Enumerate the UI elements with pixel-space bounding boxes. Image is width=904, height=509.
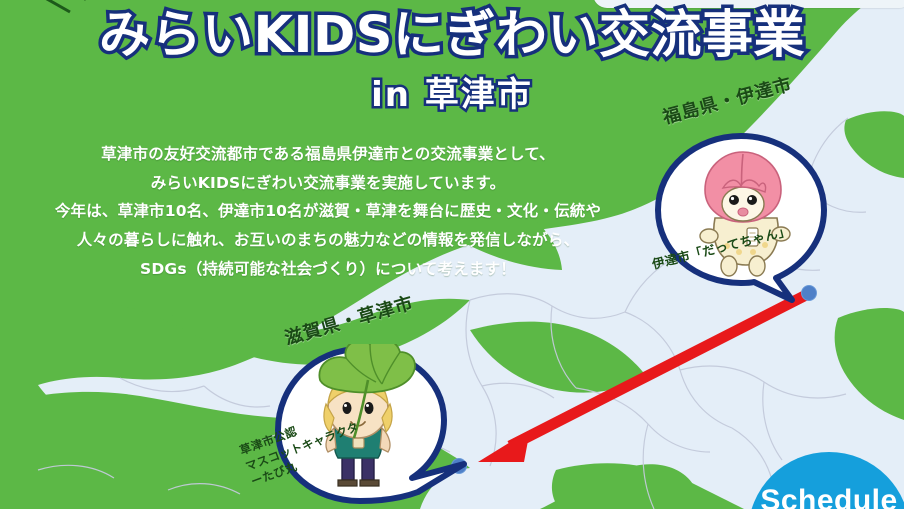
description-line-5: SDGs（持続可能な社会づくり）について考えます！ <box>28 255 628 284</box>
corner-decoration-icon <box>18 0 98 24</box>
description-line-2: みらいKIDSにぎわい交流事業を実施しています。 <box>28 169 628 198</box>
description-line-3: 今年は、草津市10名、伊達市10名が滋賀・草津を舞台に歴史・文化・伝統や <box>28 197 628 226</box>
poster-canvas: みらいKIDSにぎわい交流事業 in 草津市 草津市の友好交流都市である福島県伊… <box>0 0 904 509</box>
description-line-1: 草津市の友好交流都市である福島県伊達市との交流事業として、 <box>28 140 628 169</box>
description-paragraph: 草津市の友好交流都市である福島県伊達市との交流事業として、 みらいKIDSにぎわ… <box>28 140 628 283</box>
top-rounded-tab <box>593 0 904 8</box>
speech-balloon-fukushima <box>646 130 836 305</box>
description-line-4: 人々の暮らしに触れ、お互いのまちの魅力などの情報を発信しながら、 <box>28 226 628 255</box>
schedule-button-label: Schedule <box>760 484 897 509</box>
